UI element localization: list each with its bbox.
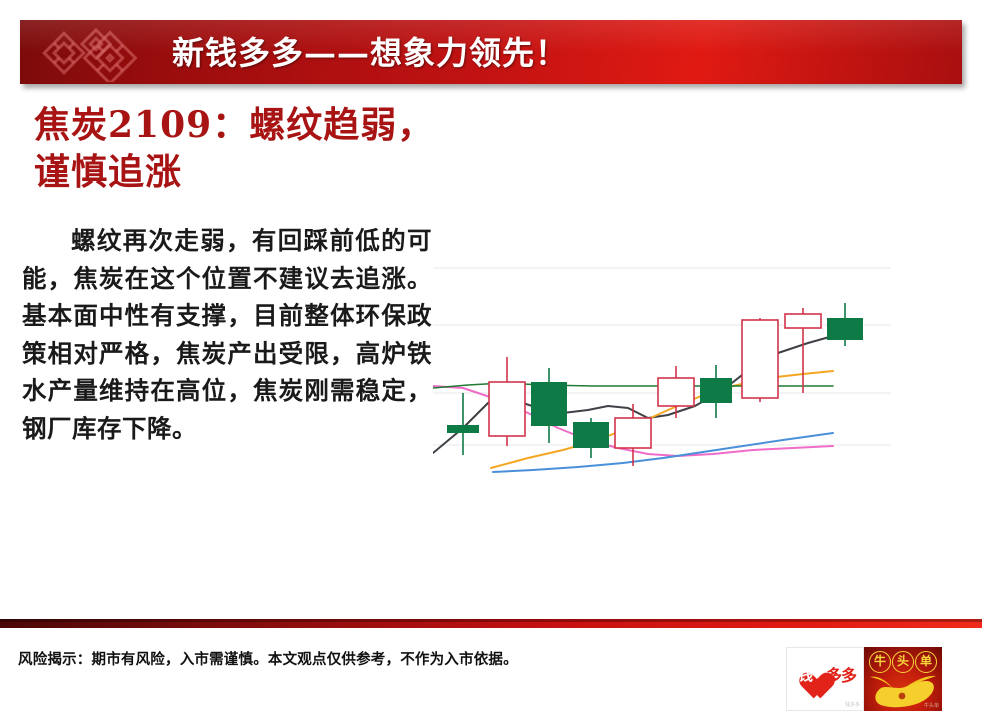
header-title: 新钱多多——想象力领先！ — [172, 28, 568, 74]
candlestick-chart — [433, 258, 891, 486]
body-paragraph: 螺纹再次走弱，有回踩前低的可能，焦炭在这个位置不建议去追涨。基本面中性有支撑，目… — [22, 222, 432, 447]
logo-niutoudan-char-3: 单 — [915, 651, 937, 673]
footer-divider — [0, 619, 982, 628]
disclaimer-text: 风险揭示：期市有风险，入市需谨慎。本文观点仅供参考，不作为入市依据。 — [18, 648, 518, 669]
logo-qianduoduo: 钱 多多 钱多多 — [786, 647, 864, 711]
logo-niutoudan-chars: 牛 头 单 — [869, 651, 937, 673]
header-banner: 新钱多多——想象力领先！ — [20, 20, 962, 84]
logo-niutoudan-corner: 牛头单 — [924, 702, 939, 709]
logo-qianduoduo-word: 多多 — [826, 668, 856, 684]
chart-candles — [447, 303, 863, 466]
logo-niutoudan-char-2: 头 — [892, 651, 914, 673]
page-title: 焦炭2109：螺纹趋弱， 谨慎追涨 — [34, 102, 594, 196]
logo-qianduoduo-corner: 钱多多 — [845, 701, 860, 708]
page-title-line1: 焦炭2109：螺纹趋弱， — [34, 104, 434, 146]
logo-qianduoduo-heart-char: 钱 — [798, 668, 813, 683]
footer-logos: 钱 多多 钱多多 牛 头 单 牛头单 — [786, 647, 942, 711]
diamond-lattice-icon — [34, 24, 164, 82]
logo-niutoudan: 牛 头 单 牛头单 — [864, 647, 942, 711]
logo-niutoudan-char-1: 牛 — [869, 651, 891, 673]
chart-canvas — [433, 258, 891, 486]
page-title-line2: 谨慎追涨 — [34, 149, 594, 196]
